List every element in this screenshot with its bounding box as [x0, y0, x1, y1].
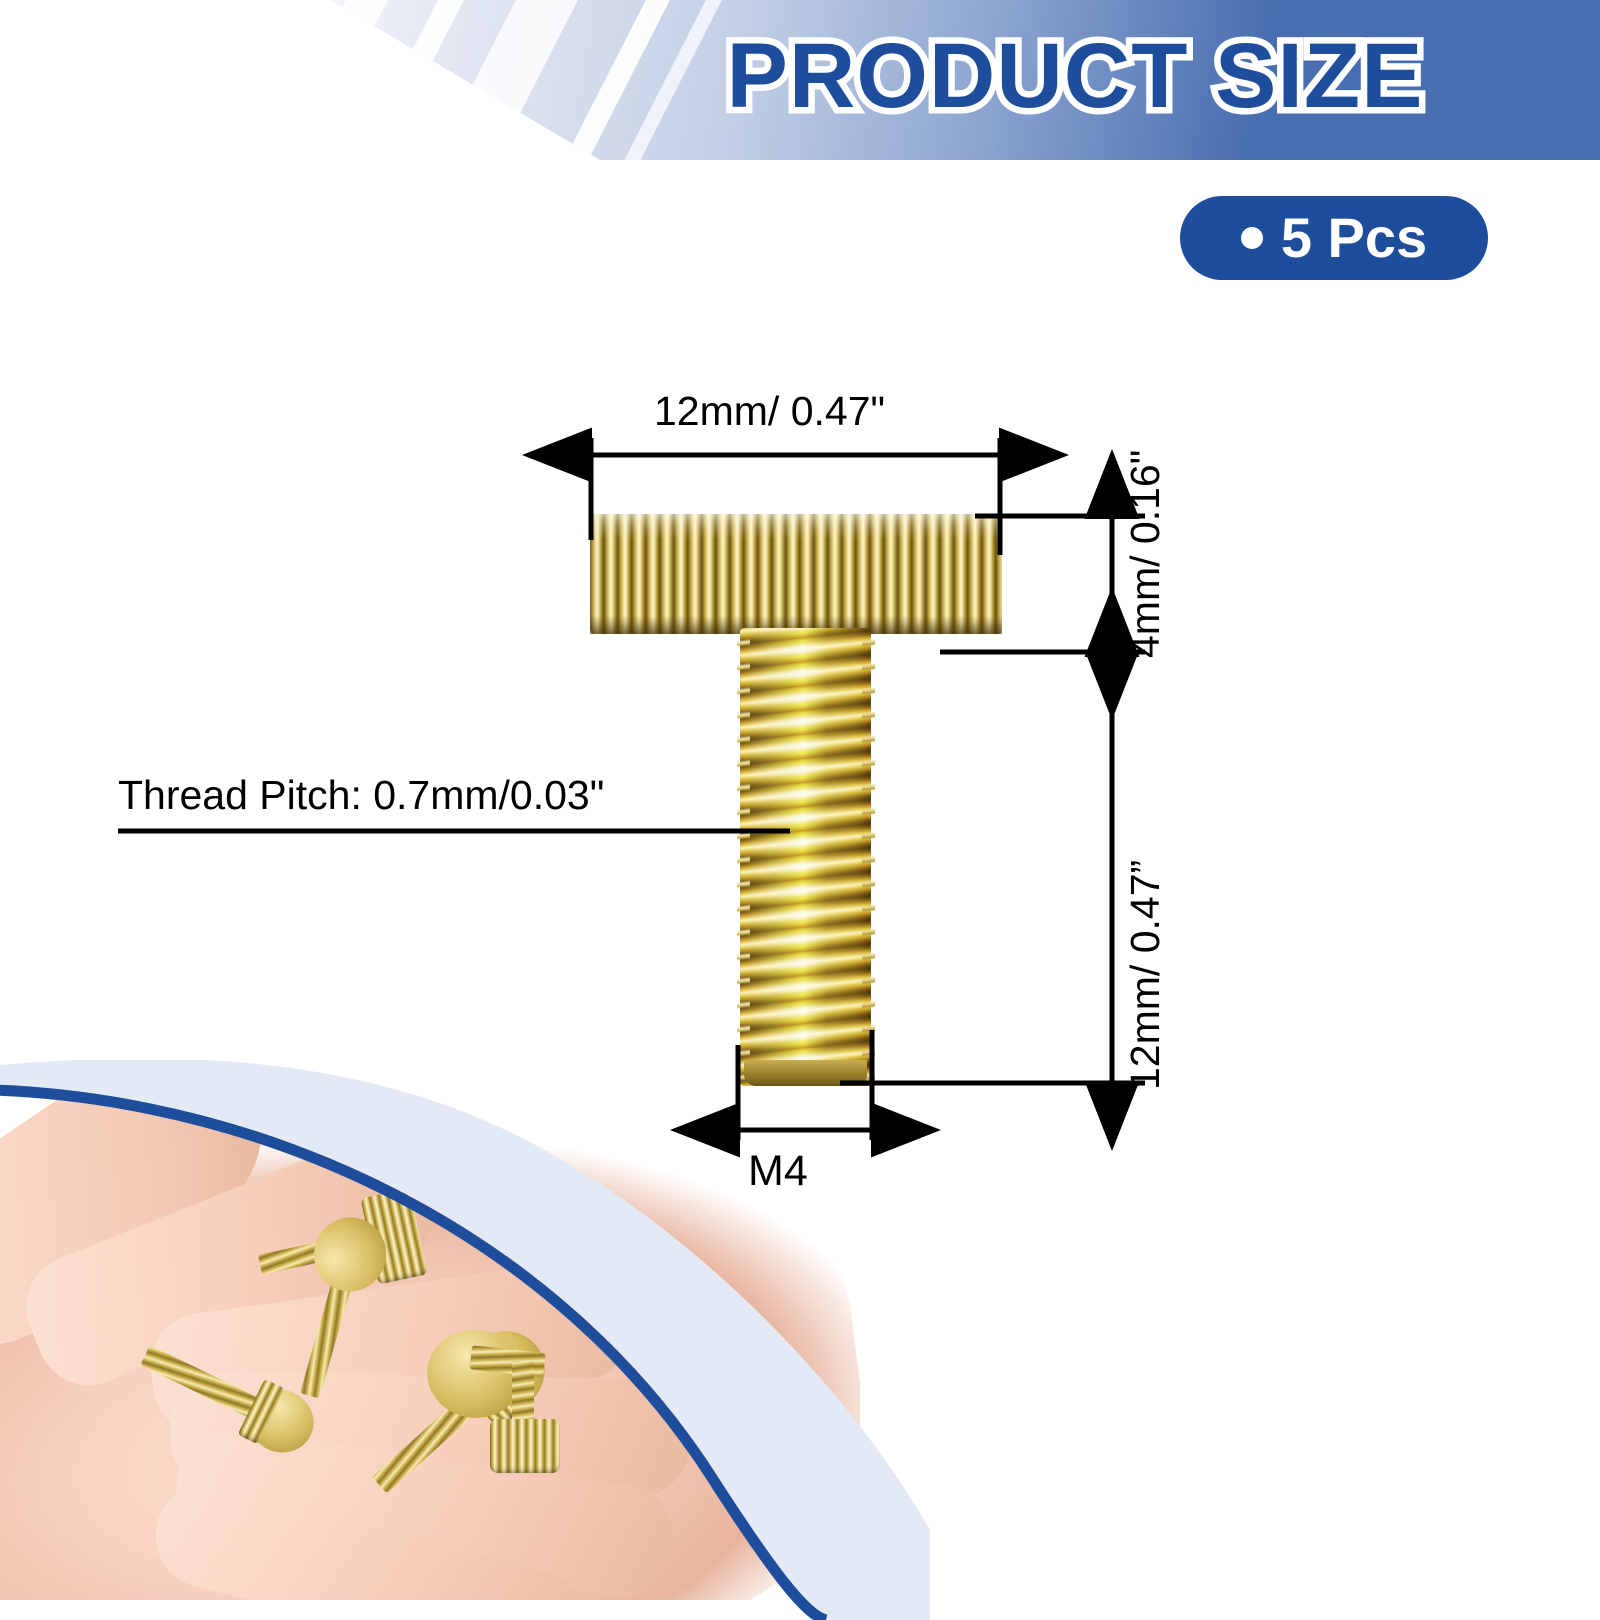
- label-head-height: 4mm/ 0.16": [1122, 450, 1168, 658]
- infographic-canvas: PRODUCT SIZE 5 Pcs: [0, 0, 1600, 1600]
- threaded-shaft: [740, 628, 871, 1086]
- knurled-head: [590, 514, 1002, 634]
- label-thread-pitch: Thread Pitch: 0.7mm/0.03": [118, 772, 604, 818]
- label-head-width: 12mm/ 0.47": [654, 388, 885, 434]
- thread-edge-right: [862, 628, 875, 1086]
- thread-edge-left: [737, 628, 750, 1086]
- label-shaft-length: 12mm/ 0.47”: [1122, 860, 1168, 1090]
- blue-swoosh-decoration: [0, 1060, 930, 1620]
